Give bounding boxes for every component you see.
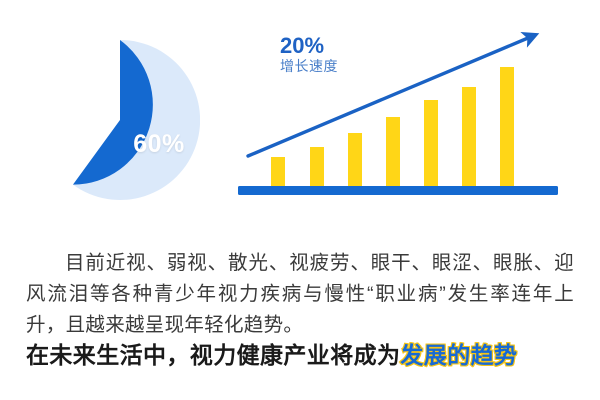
- infographic-canvas: 60%: [0, 0, 600, 400]
- growth-caption-label: 增长速度: [280, 59, 338, 74]
- pie-value-label: 60%: [40, 132, 200, 157]
- bar-5: [424, 100, 438, 186]
- pie-chart: 60%: [40, 40, 200, 200]
- bar-6: [462, 87, 476, 186]
- growth-percent-label: 20%: [280, 34, 338, 57]
- bar-4: [386, 117, 400, 186]
- bar-1: [271, 157, 285, 186]
- body-paragraph: 目前近视、弱视、散光、视疲劳、眼干、眼涩、眼胀、迎风流泪等各种青少年视力疾病与慢…: [26, 248, 574, 341]
- bar-chart: 20% 增长速度: [232, 24, 564, 200]
- pie-chart-svg: [40, 40, 200, 200]
- headline: 在未来生活中，视力健康产业将成为发展的趋势: [26, 340, 586, 370]
- bar-7: [500, 67, 514, 186]
- headline-lead: 在未来生活中，视力健康产业将成为: [26, 342, 400, 368]
- baseline-bar: [238, 186, 558, 195]
- headline-accent: 发展的趋势: [400, 342, 517, 368]
- bar-2: [310, 147, 324, 186]
- growth-callout: 20% 增长速度: [280, 34, 338, 74]
- bar-3: [348, 133, 362, 186]
- graphics-band: 60%: [0, 0, 600, 215]
